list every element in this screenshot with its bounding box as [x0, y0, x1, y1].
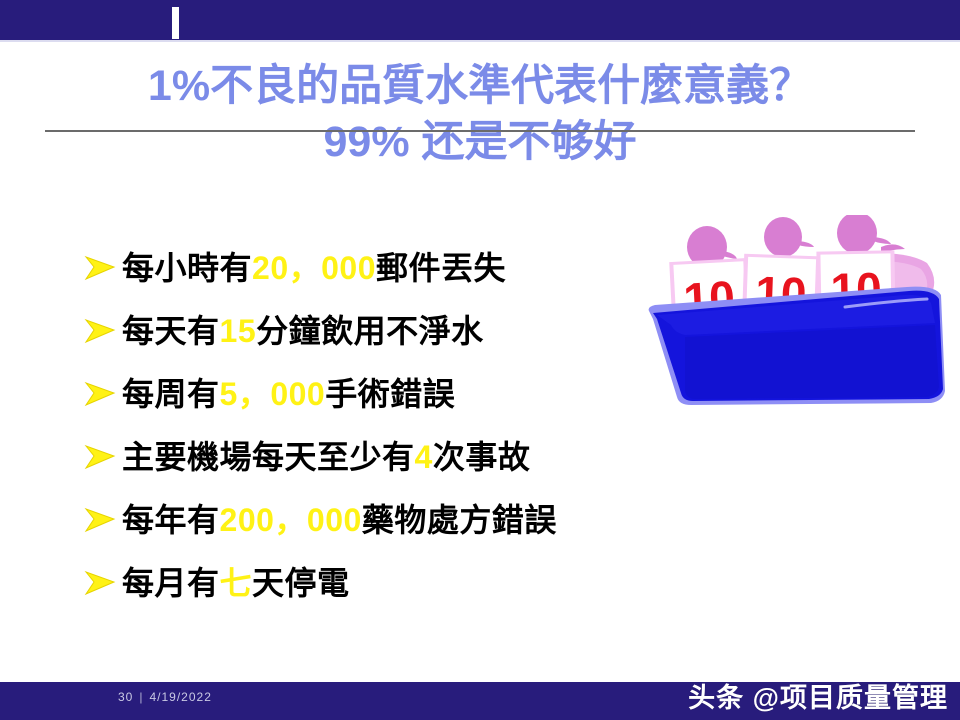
list-item-highlight: 15 — [220, 313, 257, 349]
list-item-text: 主要機場每天至少有4次事故 — [122, 441, 530, 473]
bullet-list: 每小時有20，000郵件丟失 每天有15分鐘飲用不淨水 每周有5，000手術錯誤 — [84, 236, 704, 614]
list-item-highlight: 20，000 — [252, 250, 376, 286]
arrowhead-right-icon — [84, 442, 118, 472]
arrowhead-right-icon — [84, 253, 118, 283]
arrowhead-right-icon — [84, 568, 118, 598]
list-item-text-post: 分鐘飲用不淨水 — [256, 313, 484, 349]
list-item-text-pre: 每年有 — [122, 502, 220, 538]
list-item-text-pre: 主要機場每天至少有 — [122, 439, 415, 475]
list-item-highlight: 七 — [220, 565, 253, 601]
list-item-text: 每月有七天停電 — [122, 567, 350, 599]
list-item: 每月有七天停電 — [84, 551, 704, 614]
page-title: 1%不良的品質水準代表什麼意義？ 99% 还是不够好 — [0, 62, 960, 169]
list-item-text: 每小時有20，000郵件丟失 — [122, 252, 506, 284]
list-item-text: 每周有5，000手術錯誤 — [122, 378, 455, 410]
list-item: 每周有5，000手術錯誤 — [84, 362, 704, 425]
header-bar-underline — [0, 40, 960, 42]
list-item: 每小時有20，000郵件丟失 — [84, 236, 704, 299]
slide-canvas: 1%不良的品質水準代表什麼意義？ 99% 还是不够好 每小時有20，000郵件丟… — [0, 0, 960, 720]
footer-meta: 30|4/19/2022 — [118, 690, 212, 704]
list-item-text-post: 郵件丟失 — [376, 250, 506, 286]
list-item: 主要機場每天至少有4次事故 — [84, 425, 704, 488]
slide-date: 4/19/2022 — [149, 690, 211, 704]
list-item-text-post: 手術錯誤 — [325, 376, 455, 412]
list-item-text-pre: 每小時有 — [122, 250, 252, 286]
list-item-text-pre: 每周有 — [122, 376, 220, 412]
header-bar — [0, 0, 960, 40]
page-title-line-2: 99% 还是不够好 — [0, 117, 960, 169]
arrowhead-right-icon — [84, 379, 118, 409]
judges-desk — [649, 287, 945, 405]
list-item-text-post: 天停電 — [252, 565, 350, 601]
list-item: 每年有200，000藥物處方錯誤 — [84, 488, 704, 551]
arrowhead-right-icon — [84, 505, 118, 535]
list-item-highlight: 200，000 — [220, 502, 362, 538]
footer-separator: | — [133, 690, 149, 704]
list-item-text-pre: 每天有 — [122, 313, 220, 349]
list-item-text-post: 次事故 — [433, 439, 531, 475]
list-item-highlight: 4 — [415, 439, 433, 475]
judges-panel-illustration: 10 10 — [645, 215, 955, 415]
text-cursor-icon — [172, 7, 179, 39]
list-item-text: 每天有15分鐘飲用不淨水 — [122, 315, 484, 347]
slide-number: 30 — [118, 690, 133, 704]
list-item-highlight: 5，000 — [220, 376, 326, 412]
page-title-line-1: 1%不良的品質水準代表什麼意義？ — [0, 62, 960, 111]
list-item-text: 每年有200，000藥物處方錯誤 — [122, 504, 557, 536]
arrowhead-right-icon — [84, 316, 118, 346]
watermark: 头条 @项目质量管理 — [688, 676, 948, 715]
list-item-text-pre: 每月有 — [122, 565, 220, 601]
list-item: 每天有15分鐘飲用不淨水 — [84, 299, 704, 362]
list-item-text-post: 藥物處方錯誤 — [362, 502, 557, 538]
title-divider — [45, 130, 915, 132]
